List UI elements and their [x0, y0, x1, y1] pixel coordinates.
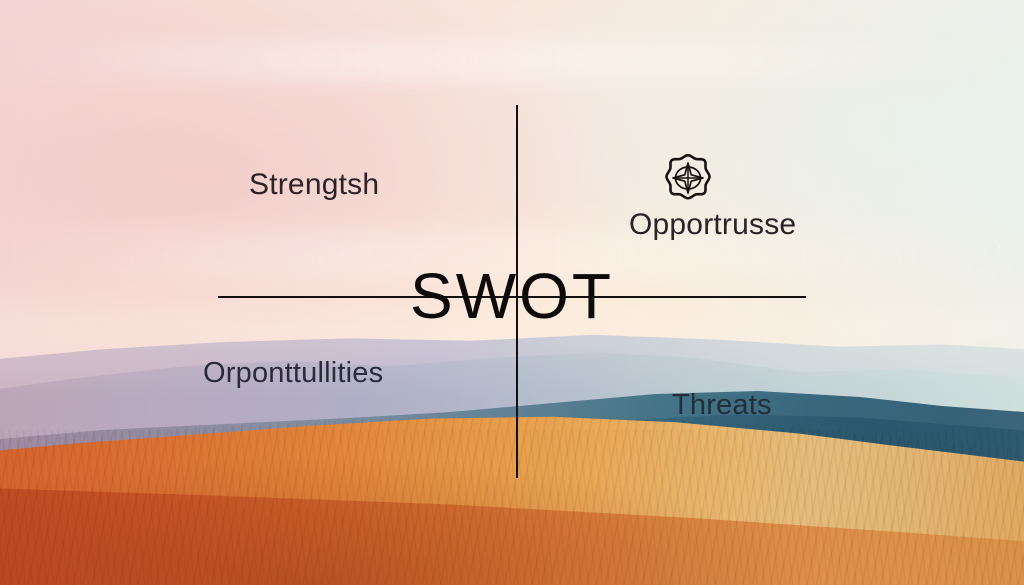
compass-rose-icon: [660, 150, 716, 206]
quadrant-label-threats: Threats: [672, 389, 772, 422]
page-title: SWOT: [0, 264, 1024, 328]
quadrant-label-strengths: Strengtsh: [249, 168, 379, 202]
quadrant-label-weaknesses: Orponttullities: [203, 357, 383, 390]
quadrant-label-opportunities: Opportrusse: [629, 208, 796, 242]
swot-poster: SWOT Strengtsh Opportrusse Orponttulliti…: [0, 0, 1024, 585]
